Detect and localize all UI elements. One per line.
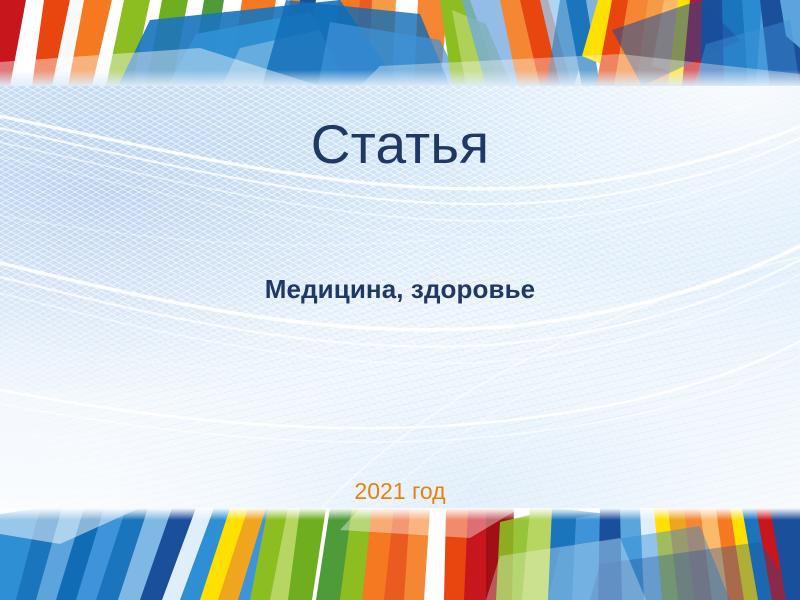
slide-title[interactable]: Статья bbox=[0, 112, 800, 176]
title-slide: Статья Медицина, здоровье 2021 год bbox=[0, 0, 800, 600]
bottom-decorative-band bbox=[0, 508, 800, 600]
slide-subtitle[interactable]: Медицина, здоровье bbox=[0, 272, 800, 306]
top-decorative-band bbox=[0, 0, 800, 86]
slide-year[interactable]: 2021 год bbox=[0, 476, 800, 506]
